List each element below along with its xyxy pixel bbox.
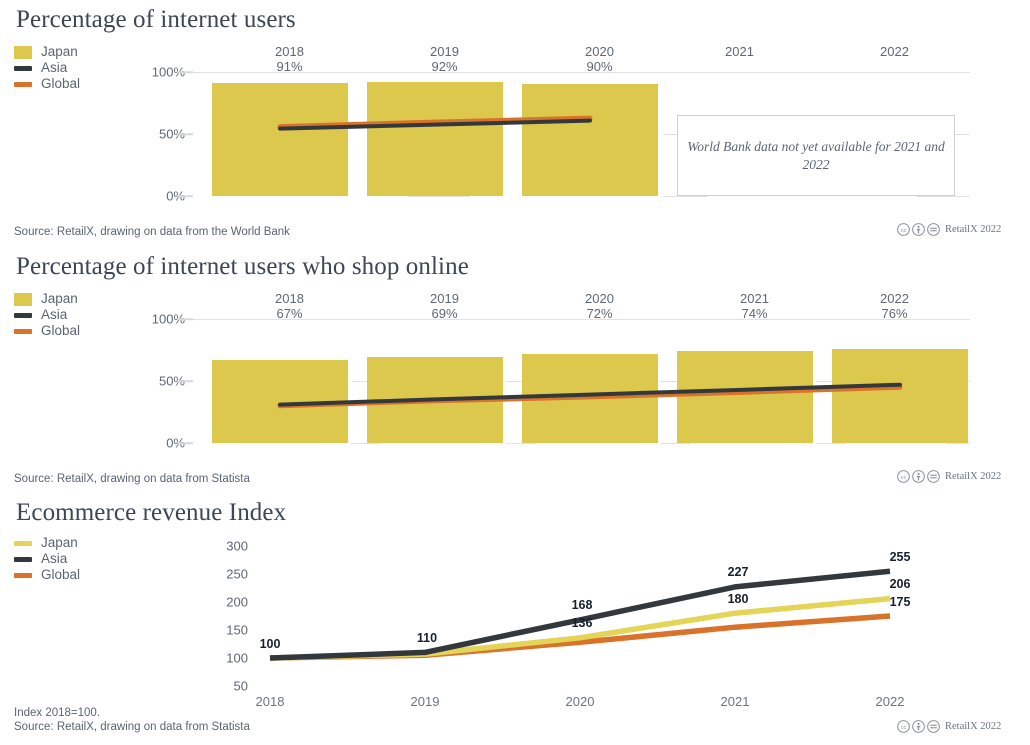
cc-badges: cc <box>897 223 940 236</box>
page-title-3: Ecommerce revenue Index <box>16 499 286 527</box>
credit-text-3: RetailX 2022 <box>945 721 1001 732</box>
legend-label-global-2: Global <box>41 323 80 339</box>
cc-license-icon: cc <box>897 470 910 483</box>
legend-item-japan[interactable]: Japan <box>14 44 80 60</box>
column-year-2018: 2018 <box>212 44 367 59</box>
gridline-0-seg-b <box>506 443 536 444</box>
data-label-japan-2020: 136 <box>572 616 593 630</box>
svg-text:cc: cc <box>901 725 907 731</box>
data-label-asia-2019: 110 <box>417 631 437 645</box>
column-value-2022-2: 76% <box>832 306 957 321</box>
column-year-2018-2: 2018 <box>212 291 367 306</box>
legend-item-asia[interactable]: Asia <box>14 60 80 76</box>
legend-revenue-index: Japan Asia Global <box>14 535 80 583</box>
legend-label-japan: Japan <box>41 44 78 60</box>
column-year-2019: 2019 <box>367 44 522 59</box>
column-header-2020: 2020 90% <box>522 44 677 74</box>
legend-label-global: Global <box>41 76 80 92</box>
column-header-2022: 2022 <box>832 44 957 59</box>
ytick-dash-50 <box>177 133 193 135</box>
ytick-label-250: 250 <box>226 567 248 582</box>
cc-by-icon <box>912 470 925 483</box>
ytick-dash-0 <box>177 195 193 197</box>
data-label-asia-2022: 255 <box>890 550 911 564</box>
xtick-label-2022: 2022 <box>876 694 905 709</box>
ytick-dash-0-2 <box>177 442 193 444</box>
svg-text:cc: cc <box>901 475 907 481</box>
cc-nd-icon <box>927 470 940 483</box>
legend-item-japan-2[interactable]: Japan <box>14 291 80 307</box>
column-header-2018: 2018 91% <box>212 44 367 74</box>
legend-label-asia-3: Asia <box>41 551 67 567</box>
legend-swatch-asia-icon <box>14 66 32 71</box>
gridline-0-seg-e <box>946 443 970 444</box>
legend-swatch-japan-icon <box>14 293 32 306</box>
gridline-0-seg <box>408 196 470 197</box>
source-note-2: Source: RetailX, drawing on data from St… <box>14 472 250 486</box>
credit-text-1: RetailX 2022 <box>945 224 1001 235</box>
legend-item-global-2[interactable]: Global <box>14 323 80 339</box>
page-title-2: Percentage of internet users who shop on… <box>16 253 469 281</box>
data-label-asia-2020: 168 <box>572 598 593 612</box>
ytick-dash-100-2 <box>177 318 193 320</box>
gridline-0-seg2 <box>663 196 708 197</box>
legend-item-global-3[interactable]: Global <box>14 567 80 583</box>
cc-nd-icon <box>927 720 940 733</box>
legend-shop-online: Japan Asia Global <box>14 291 80 339</box>
column-header-2020-2: 2020 72% <box>522 291 677 321</box>
column-value-2021-2: 74% <box>677 306 832 321</box>
legend-label-japan-3: Japan <box>41 535 78 551</box>
legend-swatch-global-icon <box>14 329 32 334</box>
gridline-0-seg3 <box>916 196 970 197</box>
panel-internet-users: Percentage of internet users Japan Asia … <box>0 0 1030 245</box>
cc-license-icon: cc <box>897 223 910 236</box>
legend-swatch-global-icon <box>14 82 32 87</box>
column-year-2019-2: 2019 <box>367 291 522 306</box>
ytick-dash-50-2 <box>177 380 193 382</box>
column-value-2019: 92% <box>367 59 522 74</box>
license-credit-2: cc RetailX 2022 <box>897 470 1001 483</box>
data-label-global-2022: 175 <box>890 595 911 609</box>
legend-label-global-3: Global <box>41 567 80 583</box>
svg-text:cc: cc <box>901 228 907 234</box>
data-label-asia-2021: 227 <box>728 565 749 579</box>
series-lines-internet-users <box>193 72 970 196</box>
gridline-0-seg-a <box>351 443 381 444</box>
column-year-2020-2: 2020 <box>522 291 677 306</box>
plot-area-shop-online: 100% 50% 0% <box>193 319 970 443</box>
legend-swatch-japan-icon <box>14 541 32 546</box>
cc-license-icon: cc <box>897 720 910 733</box>
cc-nd-icon <box>927 223 940 236</box>
ytick-dash-100 <box>177 71 193 73</box>
gridline-0-seg-c <box>661 443 691 444</box>
plot-area-internet-users: 100% 50% 0% World Bank data not yet avai… <box>193 72 970 196</box>
gridline-0-seg-d <box>816 443 846 444</box>
xtick-label-2020: 2020 <box>566 694 595 709</box>
legend-label-asia: Asia <box>41 60 67 76</box>
legend-item-asia-3[interactable]: Asia <box>14 551 80 567</box>
xtick-label-2019: 2019 <box>411 694 440 709</box>
plot-area-revenue-index: 100 110 168 227 255 136 180 206 175 2018… <box>270 546 890 686</box>
column-header-2018-2: 2018 67% <box>212 291 367 321</box>
cc-badges-3: cc <box>897 720 940 733</box>
legend-swatch-asia-icon <box>14 557 32 562</box>
column-value-2020-2: 72% <box>522 306 677 321</box>
column-header-2021-2: 2021 74% <box>677 291 832 321</box>
column-value-2018: 91% <box>212 59 367 74</box>
index-note: Index 2018=100. <box>14 706 100 720</box>
column-header-2019-2: 2019 69% <box>367 291 522 321</box>
column-year-2020: 2020 <box>522 44 677 59</box>
legend-item-asia-2[interactable]: Asia <box>14 307 80 323</box>
column-year-2022-2: 2022 <box>832 291 957 306</box>
column-value-2018-2: 67% <box>212 306 367 321</box>
legend-internet-users: Japan Asia Global <box>14 44 80 92</box>
column-header-2019: 2019 92% <box>367 44 522 74</box>
data-label-japan-2022: 206 <box>890 577 911 591</box>
source-note-1: Source: RetailX, drawing on data from th… <box>14 225 290 239</box>
legend-swatch-global-icon <box>14 573 32 578</box>
column-value-2019-2: 69% <box>367 306 522 321</box>
column-year-2021-2: 2021 <box>677 291 832 306</box>
legend-swatch-japan-icon <box>14 46 32 59</box>
column-year-2021: 2021 <box>677 44 802 59</box>
ytick-label-200: 200 <box>226 595 248 610</box>
column-header-2021: 2021 <box>677 44 802 59</box>
column-year-2022: 2022 <box>832 44 957 59</box>
legend-label-asia-2: Asia <box>41 307 67 323</box>
panel-shop-online: Percentage of internet users who shop on… <box>0 247 1030 492</box>
license-credit-1: cc RetailX 2022 <box>897 223 1001 236</box>
legend-item-global[interactable]: Global <box>14 76 80 92</box>
cc-badges-2: cc <box>897 470 940 483</box>
ytick-label-300: 300 <box>226 539 248 554</box>
xtick-label-2021: 2021 <box>721 694 750 709</box>
cc-by-icon <box>912 720 925 733</box>
line-asia-2 <box>280 385 900 405</box>
legend-label-japan-2: Japan <box>41 291 78 307</box>
series-lines-shop-online <box>193 319 970 443</box>
ytick-label-150: 150 <box>226 623 248 638</box>
data-label-japan-2021: 180 <box>728 592 749 606</box>
data-label-asia-2018: 100 <box>260 637 281 651</box>
legend-swatch-asia-icon <box>14 313 32 318</box>
column-header-2022-2: 2022 76% <box>832 291 957 321</box>
cc-by-icon <box>912 223 925 236</box>
column-value-2020: 90% <box>522 59 677 74</box>
legend-item-japan-3[interactable]: Japan <box>14 535 80 551</box>
source-note-3: Source: RetailX, drawing on data from St… <box>14 720 250 734</box>
xtick-label-2018: 2018 <box>256 694 285 709</box>
license-credit-3: cc RetailX 2022 <box>897 720 1001 733</box>
page-title: Percentage of internet users <box>16 6 296 34</box>
credit-text-2: RetailX 2022 <box>945 471 1001 482</box>
ytick-label-100: 100 <box>226 651 248 666</box>
ytick-label-50: 50 <box>234 679 248 694</box>
panel-revenue-index: Ecommerce revenue Index Japan Asia Globa… <box>0 494 1030 745</box>
